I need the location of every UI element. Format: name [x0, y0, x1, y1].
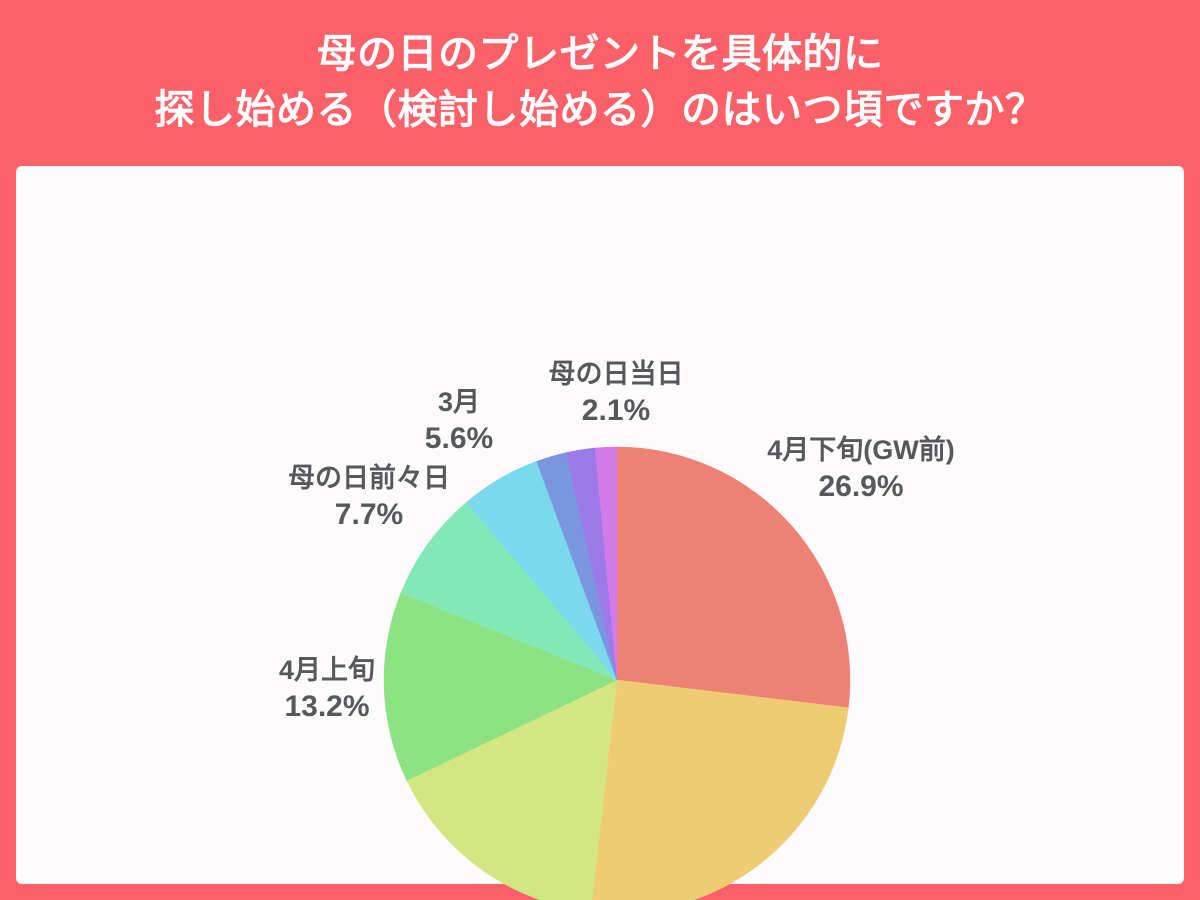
pie-label-4月上旬: 4月上旬 13.2%	[212, 654, 442, 726]
pie-label-name: 4月上旬	[212, 654, 442, 687]
pie-label-name: 4月下旬(GW前)	[716, 434, 1006, 467]
pie-label-name: 母の日当日	[486, 358, 746, 391]
pie-label-value: 13.2%	[212, 689, 442, 726]
infographic-page: 母の日のプレゼントを具体的に 探し始める（検討し始める）のはいつ頃ですか？ 4月…	[0, 0, 1200, 900]
pie-label-4月下旬: 4月下旬(GW前) 26.9%	[716, 434, 1006, 506]
chart-panel: 4月下旬(GW前) 26.9% 5月上旬(GW中) 24.9% 4月中旬 16.…	[16, 166, 1184, 884]
page-title-line-2: 探し始める（検討し始める）のはいつ頃ですか？	[155, 83, 1046, 138]
pie-label-母の日当日: 母の日当日 2.1%	[486, 358, 746, 430]
pie-label-value: 26.9%	[716, 469, 1006, 506]
header-banner: 母の日のプレゼントを具体的に 探し始める（検討し始める）のはいつ頃ですか？	[0, 0, 1200, 165]
pie-label-name: 母の日前々日	[234, 462, 504, 495]
pie-slice-5月上旬(GW中)	[591, 680, 849, 900]
page-title-line-1: 母の日のプレゼントを具体的に	[317, 27, 884, 82]
pie-label-母の日前々日: 母の日前々日 7.7%	[234, 462, 504, 534]
pie-label-value: 7.7%	[234, 497, 504, 534]
pie-label-value: 2.1%	[486, 393, 746, 430]
